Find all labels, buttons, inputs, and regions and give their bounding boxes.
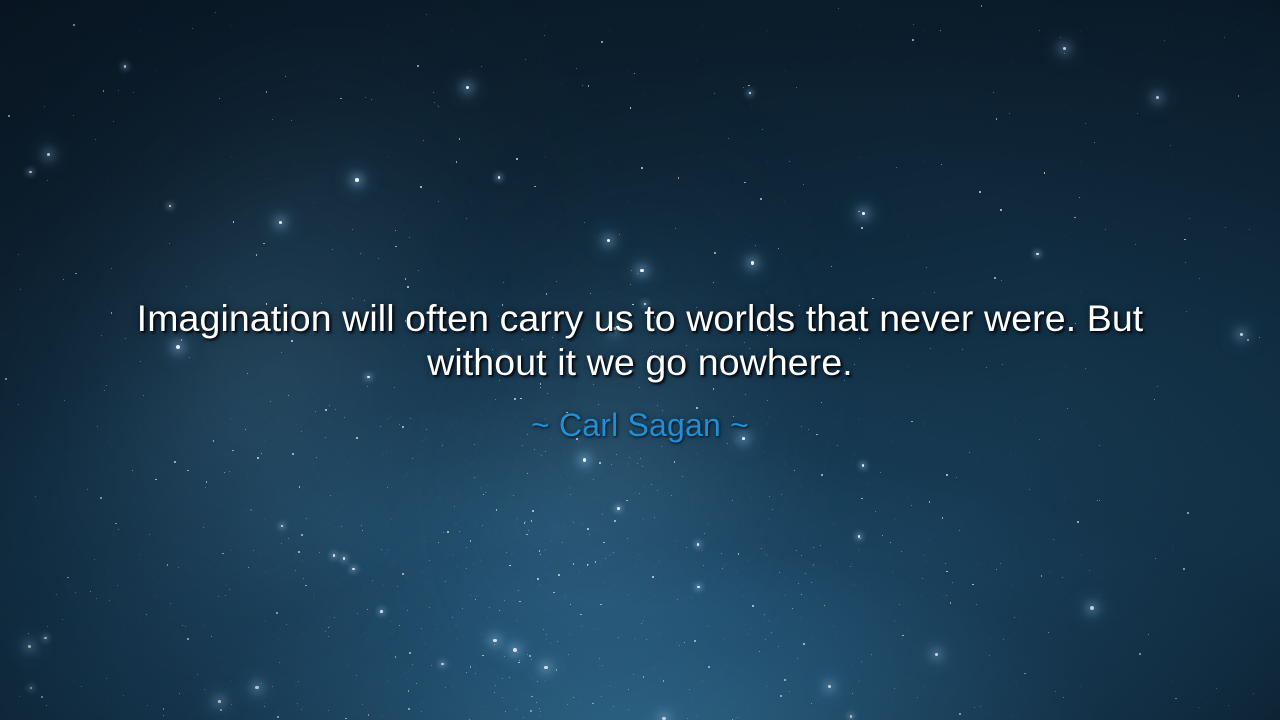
wallpaper-scene: Imagination will often carry us to world… bbox=[0, 0, 1280, 720]
quote-text: Imagination will often carry us to world… bbox=[80, 296, 1200, 384]
quote-attribution: ~ Carl Sagan ~ bbox=[531, 406, 749, 444]
